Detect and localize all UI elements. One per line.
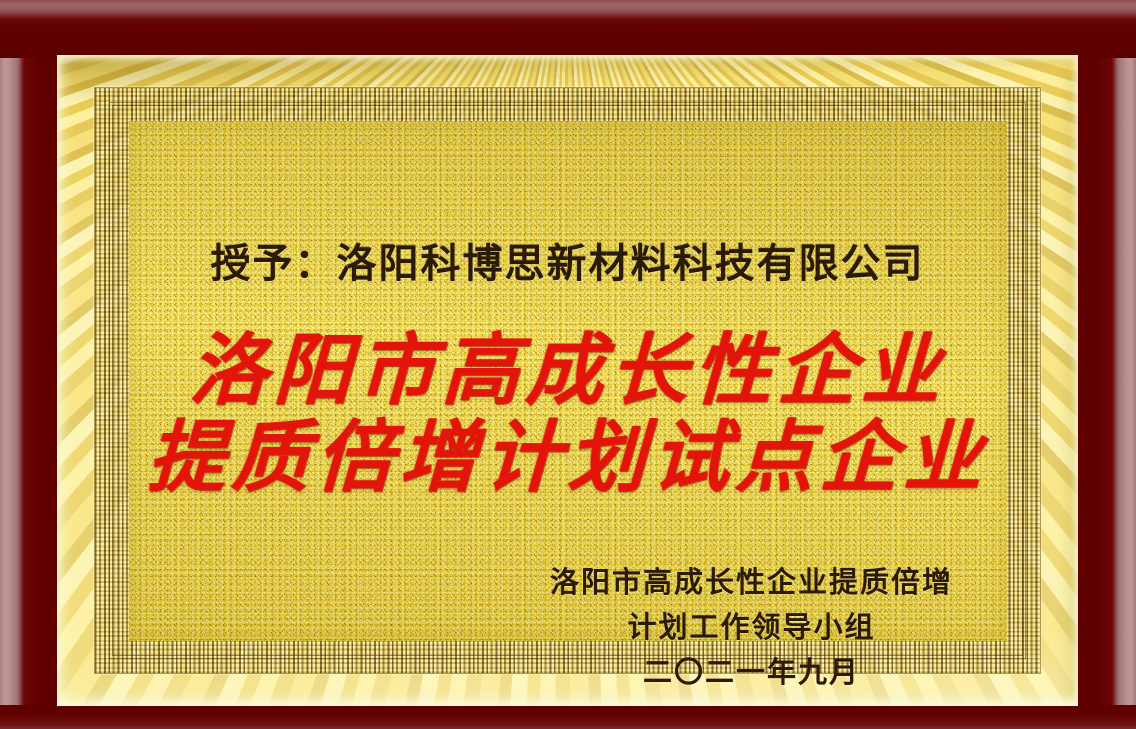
award-title-block: 洛阳市高成长性企业 提质倍增计划试点企业 [57,327,1078,502]
award-plaque: 授予：洛阳科博思新材料科技有限公司 洛阳市高成长性企业 提质倍增计划试点企业 洛… [0,0,1136,729]
issuer-name-line-1: 洛阳市高成长性企业提质倍增 [550,560,953,605]
issuer-signature-block: 洛阳市高成长性企业提质倍增 计划工作领导小组 二〇二一年九月 [550,560,953,695]
issuer-name-line-2: 计划工作领导小组 [550,605,953,650]
plaque-frame-top-bevel [0,0,1136,58]
plaque-frame-bottom-bevel [0,705,1136,729]
plaque-content: 授予：洛阳科博思新材料科技有限公司 洛阳市高成长性企业 提质倍增计划试点企业 洛… [57,55,1078,706]
gold-plate: 授予：洛阳科博思新材料科技有限公司 洛阳市高成长性企业 提质倍增计划试点企业 洛… [57,55,1078,706]
award-title-line-2: 提质倍增计划试点企业 [57,414,1078,501]
award-recipient-line: 授予：洛阳科博思新材料科技有限公司 [57,231,1078,289]
issue-date-line: 二〇二一年九月 [550,650,953,695]
award-title-line-1: 洛阳市高成长性企业 [57,327,1078,414]
